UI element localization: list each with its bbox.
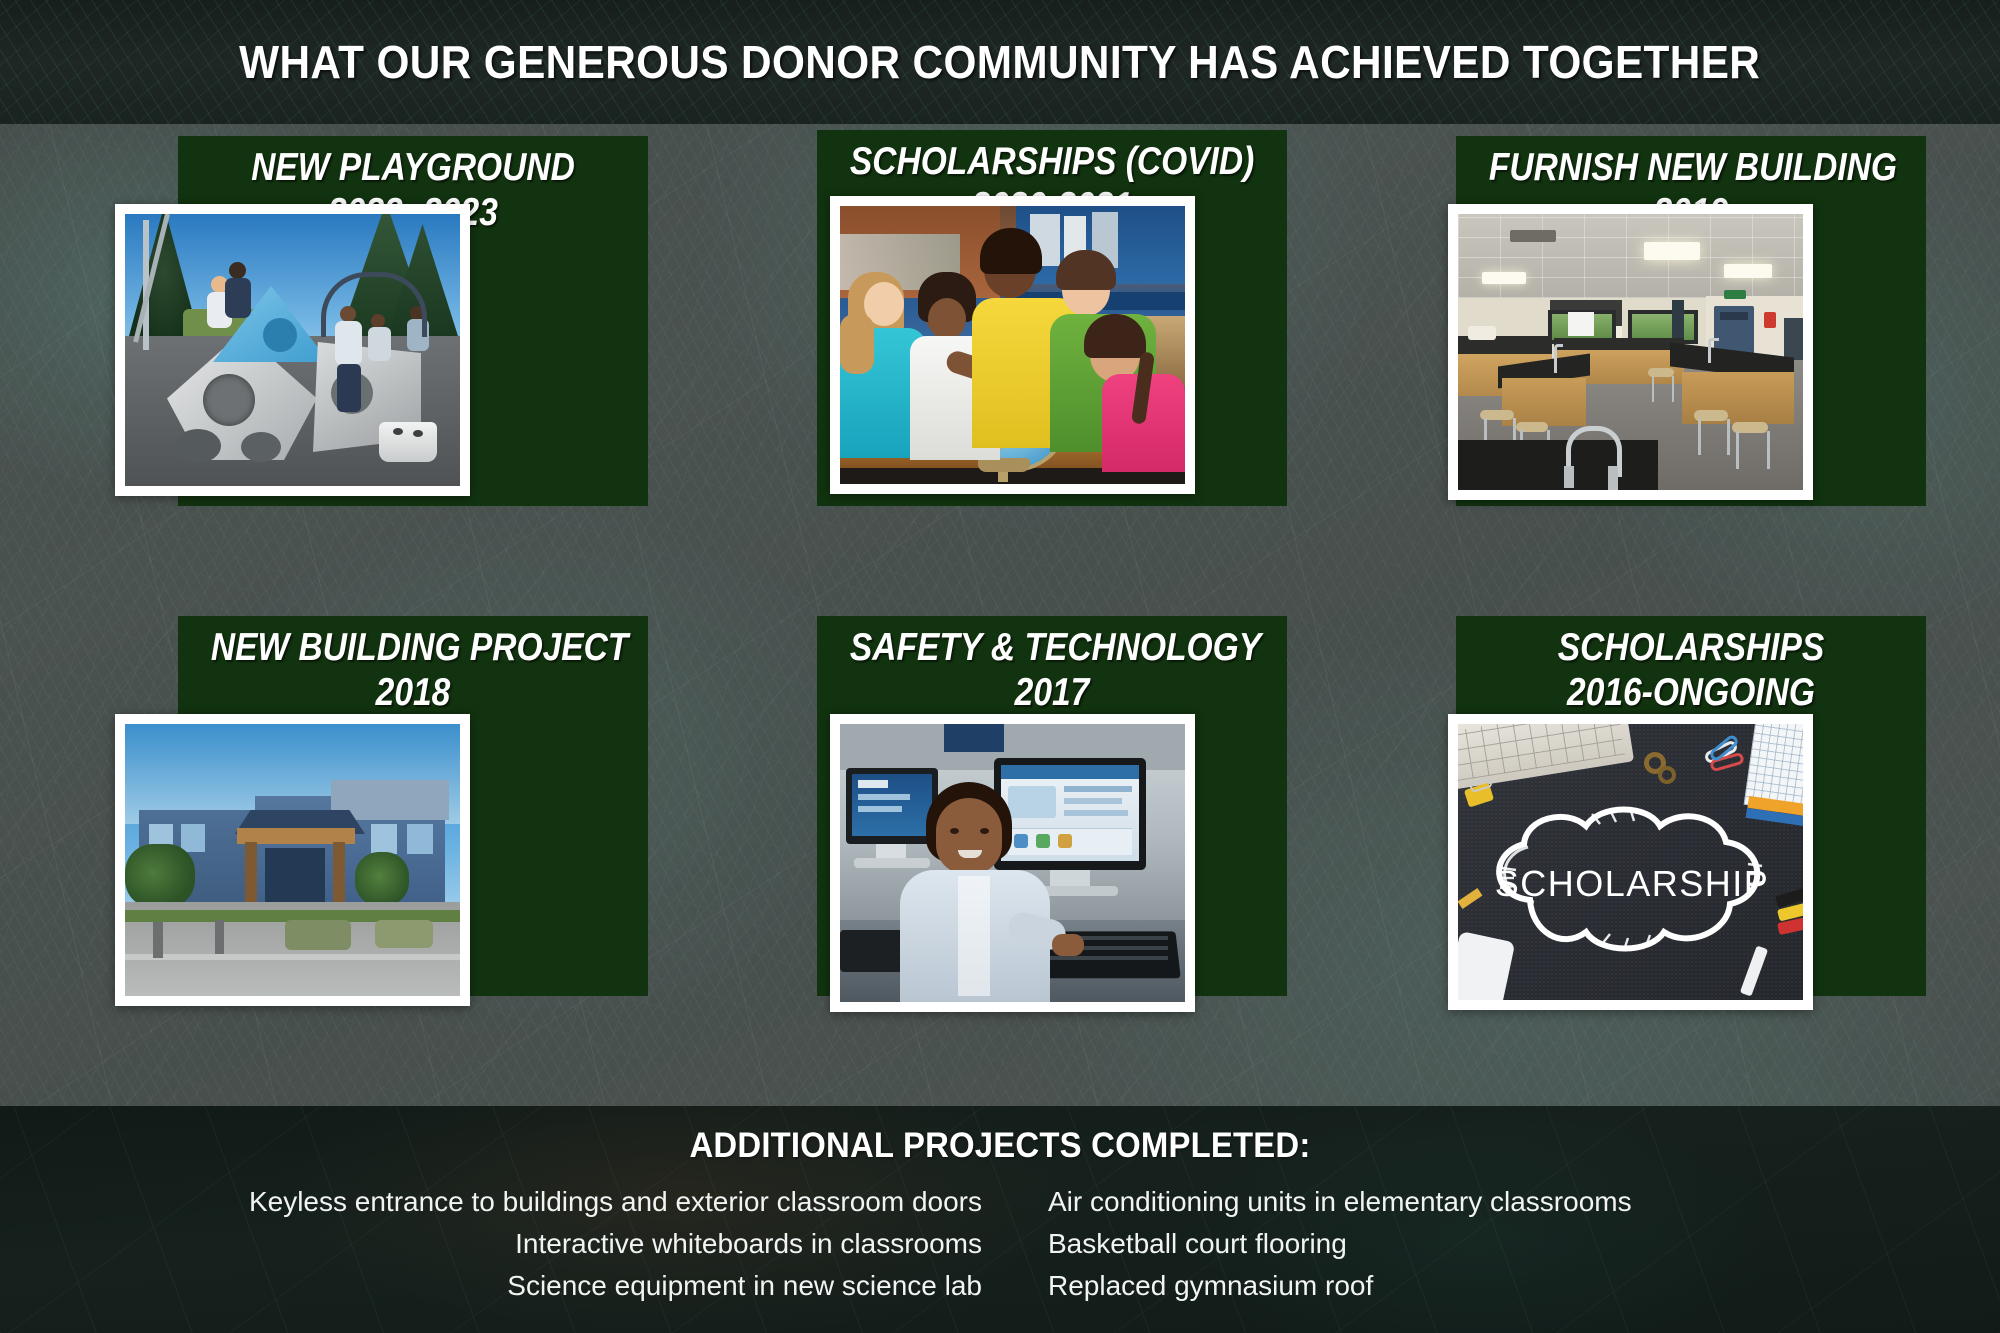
card-years: 2016-ONGOING (1489, 673, 1893, 713)
new-building-photo-frame (115, 714, 470, 1006)
footer-list-item: Science equipment in new science lab (507, 1268, 982, 1304)
poster: WHAT OUR GENEROUS DONOR COMMUNITY HAS AC… (0, 0, 2000, 1333)
achievement-card-furnish-new-building: FURNISH NEW BUILDING 2019 (1411, 124, 1971, 616)
grid-column-1: NEW PLAYGROUND 2022 -2023 (133, 124, 693, 1106)
chalk-cloud-icon: SCHOLARSHIP (1482, 804, 1782, 962)
achievement-card-scholarships-ongoing: SCHOLARSHIPS 2016-ONGOING (1411, 616, 1971, 1106)
grid-column-3: FURNISH NEW BUILDING 2019 (1411, 124, 1971, 1106)
footer-columns: Keyless entrance to buildings and exteri… (0, 1184, 2000, 1303)
page-title: WHAT OUR GENEROUS DONOR COMMUNITY HAS AC… (239, 35, 1760, 89)
card-title: FURNISH NEW BUILDING (1489, 148, 1893, 188)
playground-photo (125, 214, 460, 486)
achievement-card-safety-technology: SAFETY & TECHNOLOGY 2017 (772, 616, 1332, 1106)
globe-students-photo-frame (830, 196, 1195, 494)
card-heading: SCHOLARSHIPS 2016-ONGOING (1456, 628, 1926, 713)
new-building-photo (125, 724, 460, 996)
grid-column-2: SCHOLARSHIPS (COVID) 2020-2021 (772, 124, 1332, 1106)
card-title: NEW PLAYGROUND (211, 148, 615, 188)
science-lab-photo-frame (1448, 204, 1813, 500)
footer-list-item: Basketball court flooring (1048, 1226, 1347, 1262)
playground-photo-frame (115, 204, 470, 496)
achievement-card-new-building-project: NEW BUILDING PROJECT 2018 (133, 616, 693, 1106)
footer-column-left: Keyless entrance to buildings and exteri… (192, 1184, 982, 1303)
poster-header: WHAT OUR GENEROUS DONOR COMMUNITY HAS AC… (0, 0, 2000, 124)
card-heading: NEW BUILDING PROJECT 2018 (178, 628, 648, 713)
science-lab-photo (1458, 214, 1803, 490)
card-title: SCHOLARSHIPS (COVID) (850, 142, 1254, 182)
card-title: NEW BUILDING PROJECT (211, 628, 615, 668)
svg-text:SCHOLARSHIP: SCHOLARSHIP (1495, 863, 1770, 904)
computer-lab-photo-frame (830, 714, 1195, 1012)
poster-footer: ADDITIONAL PROJECTS COMPLETED: Keyless e… (0, 1106, 2000, 1333)
footer-title: ADDITIONAL PROJECTS COMPLETED: (60, 1106, 1940, 1166)
footer-list-item: Air conditioning units in elementary cla… (1048, 1184, 1632, 1220)
footer-list-item: Replaced gymnasium roof (1048, 1268, 1373, 1304)
achievements-grid: NEW PLAYGROUND 2022 -2023 (0, 124, 2000, 1106)
card-heading: SAFETY & TECHNOLOGY 2017 (817, 628, 1287, 713)
card-title: SCHOLARSHIPS (1489, 628, 1893, 668)
achievement-card-new-playground: NEW PLAYGROUND 2022 -2023 (133, 124, 693, 616)
card-years: 2017 (850, 673, 1254, 713)
scholarship-chalkboard-photo-frame: SCHOLARSHIP (1448, 714, 1813, 1010)
computer-lab-photo (840, 724, 1185, 1002)
card-years: 2018 (211, 673, 615, 713)
card-title: SAFETY & TECHNOLOGY (850, 628, 1254, 668)
achievement-card-scholarships-covid: SCHOLARSHIPS (COVID) 2020-2021 (772, 124, 1332, 616)
globe-students-photo (840, 206, 1185, 484)
footer-list-item: Interactive whiteboards in classrooms (515, 1226, 982, 1262)
footer-column-right: Air conditioning units in elementary cla… (1048, 1184, 1808, 1303)
scholarship-chalkboard-photo: SCHOLARSHIP (1458, 724, 1803, 1000)
footer-list-item: Keyless entrance to buildings and exteri… (249, 1184, 982, 1220)
